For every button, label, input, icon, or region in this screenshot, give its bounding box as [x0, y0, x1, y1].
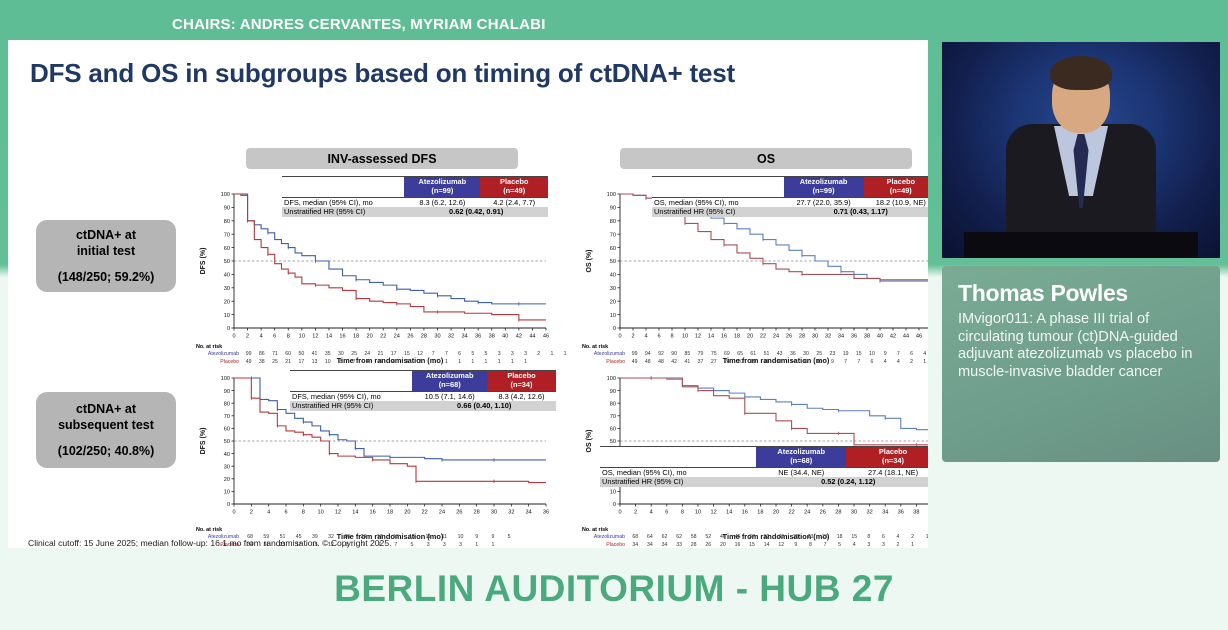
svg-text:0: 0: [613, 502, 616, 508]
median-placebo: 27.4 (18.1, NE): [846, 467, 928, 477]
svg-text:20: 20: [610, 299, 616, 305]
svg-text:14: 14: [726, 510, 732, 516]
svg-text:46: 46: [916, 334, 922, 340]
svg-text:42: 42: [516, 334, 522, 340]
svg-text:32: 32: [448, 334, 454, 340]
svg-text:8: 8: [670, 334, 673, 340]
svg-text:30: 30: [224, 464, 230, 470]
svg-text:0: 0: [618, 334, 621, 340]
risk-title: No. at risk: [196, 343, 572, 351]
svg-text:42: 42: [890, 334, 896, 340]
risk-table-dfs-initial: No. at risk Atezolizumab 998671605041353…: [196, 343, 572, 367]
median-placebo: 8.3 (4.2, 12.6): [487, 391, 556, 401]
svg-text:10: 10: [299, 334, 305, 340]
risk-row: Atezolizumab 686462625852464537323025232…: [582, 534, 928, 542]
hr-row-label: Unstratified HR (95% CI): [290, 401, 412, 410]
svg-text:34: 34: [838, 334, 844, 340]
svg-text:14: 14: [352, 510, 358, 516]
panel-header-dfs: INV-assessed DFS: [246, 148, 518, 169]
col-header-placebo: Placebo(n=34): [846, 447, 928, 468]
hr-value: 0.52 (0.24, 1.12): [756, 477, 928, 486]
risk-row: Atezolizumab 999492908579756965615143363…: [582, 351, 928, 359]
footer-cutoff: Clinical cutoff: 15 June 2025; median fo…: [28, 537, 392, 548]
svg-text:36: 36: [543, 510, 549, 516]
subgroup-line1: ctDNA+ at: [76, 401, 136, 418]
speaker-video-feed[interactable]: [942, 42, 1220, 258]
risk-table-os-initial: No. at risk Atezolizumab 999492908579756…: [582, 343, 928, 367]
svg-text:OS (%): OS (%): [586, 430, 593, 453]
svg-text:80: 80: [224, 219, 230, 225]
svg-text:50: 50: [224, 439, 230, 445]
panel-header-os: OS: [620, 148, 912, 169]
median-row-label: OS, median (95% CI), mo: [652, 197, 784, 207]
svg-text:18: 18: [387, 510, 393, 516]
col-header-placebo: Placebo(n=34): [487, 371, 556, 392]
svg-text:40: 40: [610, 273, 616, 279]
svg-text:26: 26: [820, 510, 826, 516]
svg-text:32: 32: [508, 510, 514, 516]
risk-title: No. at risk: [196, 526, 517, 534]
svg-text:14: 14: [708, 334, 714, 340]
svg-text:10: 10: [695, 510, 701, 516]
svg-text:20: 20: [367, 334, 373, 340]
median-row-label: DFS, median (95% CI), mo: [290, 391, 412, 401]
svg-text:28: 28: [421, 334, 427, 340]
svg-text:30: 30: [851, 510, 857, 516]
risk-title: No. at risk: [582, 343, 928, 351]
risk-row-values: 49484842413727242019161514121097764421: [628, 359, 928, 367]
svg-text:80: 80: [610, 401, 616, 407]
median-placebo: 4.2 (2.4, 7.7): [480, 197, 548, 207]
svg-text:22: 22: [380, 334, 386, 340]
svg-text:16: 16: [339, 334, 345, 340]
svg-text:38: 38: [913, 510, 919, 516]
subgroup-box-initial: ctDNA+ at initial test (148/250; 59.2%): [36, 220, 176, 292]
svg-text:4: 4: [650, 510, 653, 516]
risk-row-label: Atezolizumab: [196, 351, 242, 359]
svg-text:40: 40: [224, 273, 230, 279]
median-row-label: OS, median (95% CI), mo: [600, 467, 756, 477]
svg-text:10: 10: [610, 313, 616, 319]
svg-text:60: 60: [224, 246, 230, 252]
svg-text:90: 90: [610, 206, 616, 212]
page-title: DFS and OS in subgroups based on timing …: [30, 58, 735, 89]
svg-text:2: 2: [631, 334, 634, 340]
svg-text:DFS (%): DFS (%): [200, 248, 207, 275]
svg-text:40: 40: [877, 334, 883, 340]
svg-text:70: 70: [224, 414, 230, 420]
subgroup-line1: ctDNA+ at: [76, 227, 136, 244]
svg-text:OS (%): OS (%): [586, 250, 593, 273]
svg-text:34: 34: [882, 510, 888, 516]
svg-text:38: 38: [489, 334, 495, 340]
svg-text:22: 22: [422, 510, 428, 516]
svg-text:2: 2: [634, 510, 637, 516]
svg-text:6: 6: [665, 510, 668, 516]
svg-text:2: 2: [250, 510, 253, 516]
risk-row-values: 6864626258524645373230252321181586421: [628, 534, 928, 542]
svg-text:12: 12: [710, 510, 716, 516]
svg-text:100: 100: [221, 192, 230, 198]
svg-text:4: 4: [260, 334, 263, 340]
subgroup-box-subsequent: ctDNA+ at subsequent test (102/250; 40.8…: [36, 392, 176, 468]
subgroup-fraction: (102/250; 40.8%): [58, 443, 155, 460]
svg-text:70: 70: [610, 414, 616, 420]
svg-text:36: 36: [898, 510, 904, 516]
stats-table-os-subsequent: Atezolizumab(n=68) Placebo(n=34) OS, med…: [600, 446, 928, 487]
col-header-atezolizumab: Atezolizumab(n=99): [784, 177, 864, 198]
svg-text:24: 24: [804, 510, 810, 516]
svg-text:0: 0: [232, 334, 235, 340]
svg-text:90: 90: [224, 206, 230, 212]
svg-text:12: 12: [312, 334, 318, 340]
risk-row-values: 9994929085797569656151433630252319151097…: [628, 351, 928, 359]
svg-text:36: 36: [851, 334, 857, 340]
svg-text:6: 6: [284, 510, 287, 516]
speaker-info-card: Thomas Powles IMvigor011: A phase III tr…: [942, 266, 1220, 462]
svg-text:34: 34: [526, 510, 532, 516]
svg-text:32: 32: [825, 334, 831, 340]
svg-text:12: 12: [695, 334, 701, 340]
svg-text:2: 2: [246, 334, 249, 340]
svg-text:30: 30: [491, 510, 497, 516]
median-atezolizumab: 27.7 (22.0, 35.9): [784, 197, 864, 207]
svg-text:60: 60: [610, 427, 616, 433]
svg-text:22: 22: [788, 510, 794, 516]
svg-text:4: 4: [644, 334, 647, 340]
svg-text:30: 30: [434, 334, 440, 340]
speaker-talk-title: IMvigor011: A phase III trial of circula…: [958, 311, 1204, 381]
svg-text:44: 44: [529, 334, 535, 340]
svg-text:18: 18: [757, 510, 763, 516]
svg-text:80: 80: [224, 401, 230, 407]
svg-text:10: 10: [318, 510, 324, 516]
hr-value: 0.62 (0.42, 0.91): [404, 207, 548, 216]
svg-text:20: 20: [224, 477, 230, 483]
svg-text:8: 8: [302, 510, 305, 516]
svg-text:46: 46: [543, 334, 549, 340]
svg-text:10: 10: [224, 313, 230, 319]
svg-text:22: 22: [760, 334, 766, 340]
col-header-placebo: Placebo(n=49): [480, 177, 548, 198]
risk-table-os-subsequent: No. at risk Atezolizumab 686462625852464…: [582, 526, 928, 548]
svg-text:44: 44: [903, 334, 909, 340]
podium-icon: [964, 232, 1198, 258]
risk-row: Atezolizumab 998671605041353025242117151…: [196, 351, 572, 359]
svg-text:0: 0: [613, 326, 616, 332]
svg-text:10: 10: [224, 490, 230, 496]
subgroup-line2: initial test: [77, 243, 135, 260]
svg-text:0: 0: [232, 510, 235, 516]
svg-text:12: 12: [335, 510, 341, 516]
svg-text:20: 20: [747, 334, 753, 340]
col-header-placebo: Placebo(n=49): [864, 177, 928, 198]
svg-text:38: 38: [864, 334, 870, 340]
risk-row-label: Atezolizumab: [582, 534, 628, 542]
svg-text:6: 6: [273, 334, 276, 340]
svg-text:14: 14: [326, 334, 332, 340]
svg-text:10: 10: [682, 334, 688, 340]
svg-text:28: 28: [835, 510, 841, 516]
svg-text:20: 20: [224, 299, 230, 305]
svg-text:10: 10: [610, 490, 616, 496]
svg-text:50: 50: [224, 259, 230, 265]
svg-text:34: 34: [461, 334, 467, 340]
stats-table-dfs-subsequent: Atezolizumab(n=68) Placebo(n=34) DFS, me…: [290, 370, 556, 411]
svg-text:60: 60: [610, 246, 616, 252]
hr-row-label: Unstratified HR (95% CI): [282, 207, 404, 216]
svg-text:80: 80: [610, 219, 616, 225]
speaker-name: Thomas Powles: [958, 280, 1204, 307]
col-header-atezolizumab: Atezolizumab(n=68): [756, 447, 846, 468]
svg-text:26: 26: [786, 334, 792, 340]
col-header-atezolizumab: Atezolizumab(n=99): [404, 177, 480, 198]
svg-text:16: 16: [742, 510, 748, 516]
svg-text:0: 0: [227, 326, 230, 332]
hr-row-label: Unstratified HR (95% CI): [652, 207, 784, 216]
risk-row-label: Atezolizumab: [582, 351, 628, 359]
svg-text:100: 100: [607, 376, 616, 382]
svg-text:30: 30: [610, 286, 616, 292]
risk-row-values: 49382521171310874443211111111: [242, 359, 532, 367]
svg-text:8: 8: [681, 510, 684, 516]
svg-text:DFS (%): DFS (%): [200, 428, 207, 455]
svg-text:20: 20: [404, 510, 410, 516]
svg-text:26: 26: [456, 510, 462, 516]
stats-table-dfs-initial: Atezolizumab(n=99) Placebo(n=49) DFS, me…: [282, 176, 548, 217]
stats-table-os-initial: Atezolizumab(n=99) Placebo(n=49) OS, med…: [652, 176, 928, 217]
col-header-atezolizumab: Atezolizumab(n=68): [412, 371, 487, 392]
svg-text:26: 26: [407, 334, 413, 340]
svg-text:18: 18: [353, 334, 359, 340]
svg-text:60: 60: [224, 427, 230, 433]
svg-text:70: 70: [224, 232, 230, 238]
svg-text:16: 16: [721, 334, 727, 340]
hr-row-label: Unstratified HR (95% CI): [600, 477, 756, 486]
risk-row-label: Placebo: [582, 359, 628, 367]
svg-text:28: 28: [474, 510, 480, 516]
broadcast-stage: CHAIRS: ANDRES CERVANTES, MYRIAM CHALABI…: [0, 0, 1228, 630]
chairs-label: CHAIRS: ANDRES CERVANTES, MYRIAM CHALABI: [172, 16, 546, 33]
svg-text:70: 70: [610, 232, 616, 238]
median-atezolizumab: NE (34.4, NE): [756, 467, 846, 477]
risk-row: Placebo 49484842413727242019161514121097…: [582, 359, 928, 367]
median-atezolizumab: 8.3 (6.2, 12.6): [404, 197, 480, 207]
svg-text:30: 30: [224, 286, 230, 292]
subgroup-fraction: (148/250; 59.2%): [58, 269, 155, 286]
risk-row-values: 998671605041353025242117151277655333211: [242, 351, 572, 359]
svg-text:36: 36: [475, 334, 481, 340]
hr-value: 0.66 (0.40, 1.10): [412, 401, 556, 410]
svg-text:100: 100: [607, 192, 616, 198]
svg-text:0: 0: [618, 510, 621, 516]
median-row-label: DFS, median (95% CI), mo: [282, 197, 404, 207]
risk-row-label: Placebo: [196, 359, 242, 367]
svg-text:100: 100: [221, 376, 230, 382]
svg-text:24: 24: [773, 334, 779, 340]
svg-text:32: 32: [866, 510, 872, 516]
svg-text:50: 50: [610, 439, 616, 445]
svg-text:8: 8: [287, 334, 290, 340]
svg-text:20: 20: [773, 510, 779, 516]
svg-text:18: 18: [734, 334, 740, 340]
median-atezolizumab: 10.5 (7.1, 14.6): [412, 391, 487, 401]
risk-title: No. at risk: [582, 526, 928, 534]
risk-row: Placebo 49382521171310874443211111111: [196, 359, 572, 367]
svg-text:40: 40: [502, 334, 508, 340]
hr-value: 0.71 (0.43, 1.17): [784, 207, 928, 216]
speaker-hair-icon: [1050, 56, 1112, 90]
svg-text:0: 0: [227, 502, 230, 508]
svg-text:50: 50: [610, 259, 616, 265]
svg-text:24: 24: [394, 334, 400, 340]
svg-text:30: 30: [812, 334, 818, 340]
svg-text:4: 4: [267, 510, 270, 516]
svg-text:90: 90: [224, 389, 230, 395]
svg-text:6: 6: [657, 334, 660, 340]
presentation-slide: DFS and OS in subgroups based on timing …: [8, 40, 928, 548]
svg-text:40: 40: [224, 452, 230, 458]
subgroup-line2: subsequent test: [58, 417, 154, 434]
svg-text:16: 16: [370, 510, 376, 516]
svg-text:28: 28: [799, 334, 805, 340]
venue-label: BERLIN AUDITORIUM - HUB 27: [0, 568, 1228, 610]
svg-text:24: 24: [439, 510, 445, 516]
median-placebo: 18.2 (10.9, NE): [864, 197, 928, 207]
svg-text:90: 90: [610, 389, 616, 395]
